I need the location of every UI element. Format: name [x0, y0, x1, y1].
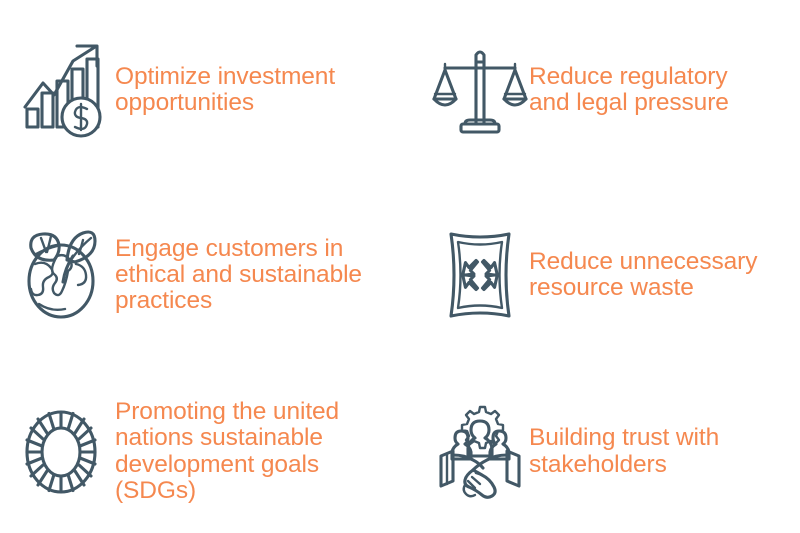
benefit-item-optimize-investment-opportunities: Optimize investment opportunities [0, 0, 400, 180]
benefit-item-promoting-un-sdgs: Promoting the united nations sustainable… [0, 370, 400, 533]
benefit-label: Promoting the united nations sustainable… [114, 399, 400, 504]
globe-leaves-icon [18, 223, 114, 327]
benefit-label: Reduce unnecessary resource waste [528, 249, 757, 301]
benefit-item-engage-customers-ethical-sustainable: Engage customers in ethical and sustaina… [0, 180, 400, 370]
benefit-label: Optimize investment opportunities [114, 64, 335, 116]
benefit-item-reduce-regulatory-legal-pressure: Reduce regulatory and legal pressure [400, 0, 800, 180]
benefit-item-building-trust-stakeholders: Building trust with stakeholders [400, 370, 800, 533]
handshake-people-gear-icon [432, 400, 528, 504]
benefit-label: Building trust with stakeholders [528, 425, 719, 477]
growth-chart-dollar-icon [18, 38, 114, 142]
benefits-grid: Optimize investment opportunities [0, 0, 800, 533]
compress-arrows-frame-icon [432, 223, 528, 327]
benefit-item-reduce-unnecessary-resource-waste: Reduce unnecessary resource waste [400, 180, 800, 370]
benefit-label: Engage customers in ethical and sustaina… [114, 236, 362, 315]
sdg-wheel-icon [18, 400, 114, 504]
balance-scales-icon [432, 38, 528, 142]
benefit-label: Reduce regulatory and legal pressure [528, 64, 729, 116]
